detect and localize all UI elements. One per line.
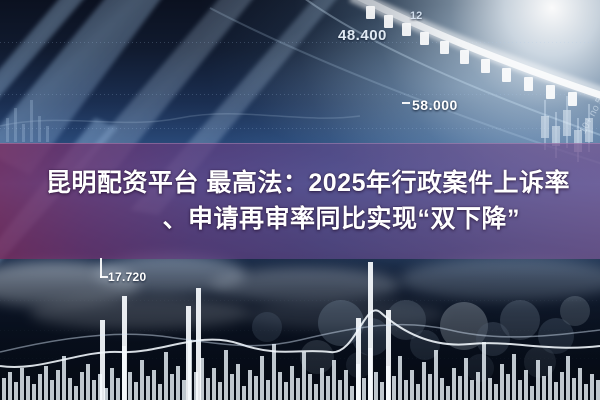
headline-line-1: 昆明配资平台 最高法：2025年行政案件上诉率 <box>46 165 586 201</box>
tick-marker-58000 <box>402 102 410 104</box>
headline-overlay-band: 昆明配资平台 最高法：2025年行政案件上诉率 、申请再审率同比实现“双下降” <box>0 143 600 259</box>
price-label-17720: 17.720 <box>108 270 147 284</box>
tick-marker-17720-h <box>100 276 108 278</box>
axis-tick-12: 12 <box>410 10 422 22</box>
price-label-58000: 58.000 <box>412 97 458 113</box>
price-label-48400: 48.400 <box>338 27 387 44</box>
tick-marker-17720-v <box>100 258 102 278</box>
banner-image: 昆明配资平台 最高法：2025年行政案件上诉率 、申请再审率同比实现“双下降” … <box>0 0 600 400</box>
headline-line-2: 、申请再审率同比实现“双下降” <box>162 201 586 237</box>
